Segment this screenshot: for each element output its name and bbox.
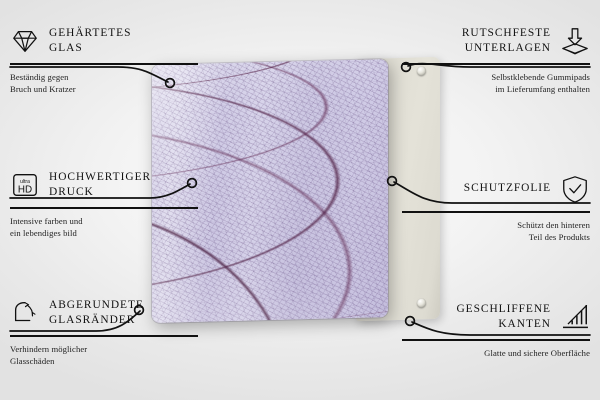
stacked-pads-arrow-icon <box>560 26 590 56</box>
shield-check-icon <box>560 174 590 204</box>
diamond-icon <box>10 26 40 56</box>
feature-description: Glatte und sichere Oberfläche <box>402 347 590 360</box>
feature-header: ultra HD HOCHWERTIGER DRUCK <box>10 168 198 202</box>
divider <box>10 335 198 337</box>
feature-description: Selbstklebende Gummipads im Lieferumfang… <box>402 71 590 96</box>
feature-header: GEHÄRTETES GLAS <box>10 24 198 58</box>
divider <box>402 211 590 213</box>
divider <box>402 63 590 65</box>
feature-gehaertetes-glas: GEHÄRTETES GLAS Beständig gegen Bruch un… <box>10 24 198 96</box>
ultra-hd-badge-icon: ultra HD <box>10 170 40 200</box>
diagonal-hatch-icon <box>560 302 590 332</box>
divider <box>10 63 198 65</box>
feature-title: ABGERUNDETE GLASRÄNDER <box>49 298 144 328</box>
feature-abgerundete-glasraender: ABGERUNDETE GLASRÄNDER Verhindern möglic… <box>10 296 198 368</box>
feature-header: ABGERUNDETE GLASRÄNDER <box>10 296 198 330</box>
feature-title: SCHUTZFOLIE <box>464 181 551 196</box>
feature-header: RUTSCHFESTE UNTERLAGEN <box>402 24 590 58</box>
feature-description: Schützt den hinteren Teil des Produkts <box>402 219 590 244</box>
feature-rutschfeste-unterlagen: RUTSCHFESTE UNTERLAGEN Selbstklebende Gu… <box>402 24 590 96</box>
feature-header: SCHUTZFOLIE <box>402 172 590 206</box>
feature-title: RUTSCHFESTE UNTERLAGEN <box>462 26 551 56</box>
feature-title: GEHÄRTETES GLAS <box>49 26 131 56</box>
feature-description: Beständig gegen Bruch und Kratzer <box>10 71 198 96</box>
feature-description: Verhindern möglicher Glasschäden <box>10 343 198 368</box>
feature-geschliffene-kanten: GESCHLIFFENE KANTEN Glatte und sichere O… <box>402 300 590 359</box>
divider <box>10 207 198 209</box>
rounded-corner-icon <box>10 298 40 328</box>
connector-dot <box>388 177 397 186</box>
feature-description: Intensive farben und ein lebendiges bild <box>10 215 198 240</box>
feature-title: HOCHWERTIGER DRUCK <box>49 170 151 200</box>
feature-schutzfolie: SCHUTZFOLIE Schützt den hinteren Teil de… <box>402 172 590 244</box>
hd-label: HD <box>18 185 32 196</box>
feature-hochwertiger-druck: ultra HD HOCHWERTIGER DRUCK Intensive fa… <box>10 168 198 240</box>
product-infographic: { "product": { "name": "glass-board", "f… <box>0 0 600 400</box>
divider <box>402 339 590 341</box>
feature-title: GESCHLIFFENE KANTEN <box>456 302 551 332</box>
feature-header: GESCHLIFFENE KANTEN <box>402 300 590 334</box>
